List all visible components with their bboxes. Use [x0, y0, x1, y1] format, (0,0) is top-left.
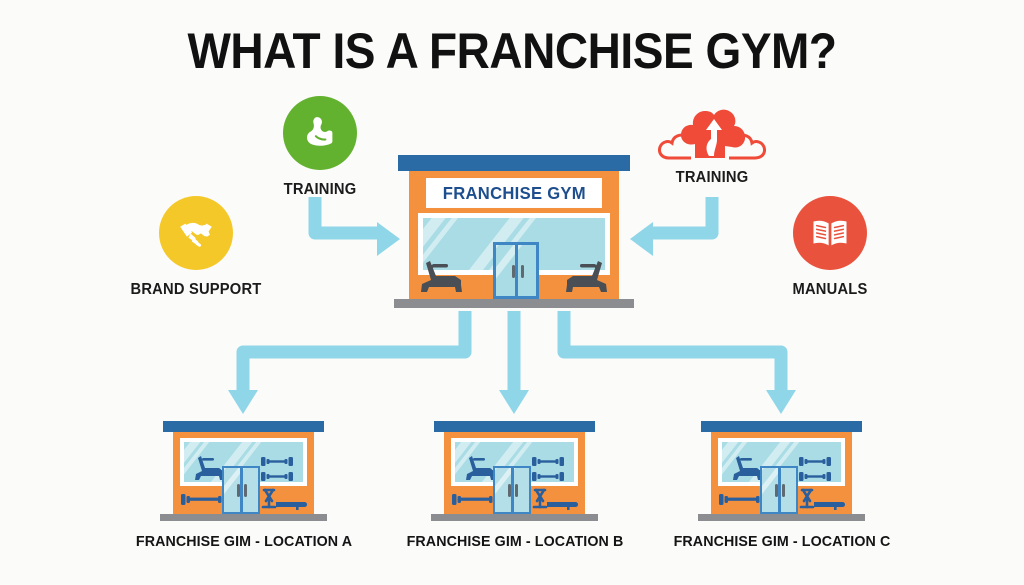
building-entrance-door[interactable] [493, 466, 531, 514]
building-roof [434, 421, 595, 432]
door-divider [778, 468, 781, 512]
page-title: WHAT IS A FRANCHISE GYM? [41, 22, 983, 80]
building-entrance-door[interactable] [493, 242, 539, 299]
dumbbell-icons [258, 453, 298, 486]
brand-support-badge[interactable] [159, 196, 233, 270]
bench-icon [798, 487, 848, 511]
door-handle-left[interactable] [775, 484, 778, 497]
door-handle-left[interactable] [508, 484, 511, 497]
door-divider [511, 468, 514, 512]
feature-training-right[interactable]: TRAINING [650, 100, 774, 187]
bench-icon [531, 487, 581, 511]
building-ground [431, 514, 598, 521]
location-label-a: FRANCHISE GIM - LOCATION A [135, 533, 351, 550]
training-badge[interactable] [283, 96, 357, 170]
feature-manuals[interactable]: MANUALS [760, 196, 900, 299]
door-divider [515, 245, 518, 296]
building-entrance-door[interactable] [222, 466, 260, 514]
connector-inbound-right [630, 197, 712, 256]
building-roof [701, 421, 862, 432]
growth-cloud-arrow-icon [657, 100, 767, 162]
door-handle-left[interactable] [512, 265, 515, 278]
building-roof [163, 421, 324, 432]
location-building-a[interactable]: FRANCHISE GIM - LOCATION A [160, 421, 327, 521]
feature-label: BRAND SUPPORT [130, 281, 263, 299]
location-label-c: FRANCHISE GIM - LOCATION C [673, 533, 890, 550]
growth-cloud-badge[interactable] [657, 100, 767, 162]
door-handle-right[interactable] [515, 484, 518, 497]
connector-outbound-center [499, 311, 529, 414]
handshake-icon [173, 210, 219, 256]
feature-training-left[interactable]: TRAINING [256, 96, 384, 199]
infographic-canvas: WHAT IS A FRANCHISE GYM? [0, 0, 1024, 585]
open-book-icon [808, 211, 852, 255]
feature-label: TRAINING [653, 169, 771, 187]
dumbbell-icons [796, 453, 836, 486]
building-roof [398, 155, 630, 171]
bicep-flex-icon [298, 111, 342, 155]
building-entrance-door[interactable] [760, 466, 798, 514]
bench-icon [260, 487, 310, 511]
location-building-b[interactable]: FRANCHISE GIM - LOCATION B [431, 421, 598, 521]
door-handle-right[interactable] [782, 484, 785, 497]
feature-label: TRAINING [259, 181, 381, 199]
building-ground [394, 299, 634, 308]
feature-label: MANUALS [764, 281, 897, 299]
door-handle-right[interactable] [244, 484, 247, 497]
connector-outbound-right [564, 311, 796, 414]
feature-brand-support[interactable]: BRAND SUPPORT [126, 196, 266, 299]
building-sign-text: FRANCHISE GYM [442, 183, 585, 204]
location-building-c[interactable]: FRANCHISE GIM - LOCATION C [698, 421, 865, 521]
building-sign: FRANCHISE GYM [427, 179, 601, 207]
building-ground [160, 514, 327, 521]
location-label-b: FRANCHISE GIM - LOCATION B [406, 533, 623, 550]
door-handle-left[interactable] [237, 484, 240, 497]
door-divider [240, 468, 243, 512]
treadmill-icon-left [412, 259, 476, 299]
manuals-badge[interactable] [793, 196, 867, 270]
connector-outbound-left [228, 311, 465, 414]
main-franchise-gym-building[interactable]: FRANCHISE GYM [394, 155, 634, 310]
connector-inbound-left [315, 197, 400, 256]
treadmill-icon-right [552, 259, 616, 299]
building-ground [698, 514, 865, 521]
dumbbell-icons [529, 453, 569, 486]
door-handle-right[interactable] [521, 265, 524, 278]
